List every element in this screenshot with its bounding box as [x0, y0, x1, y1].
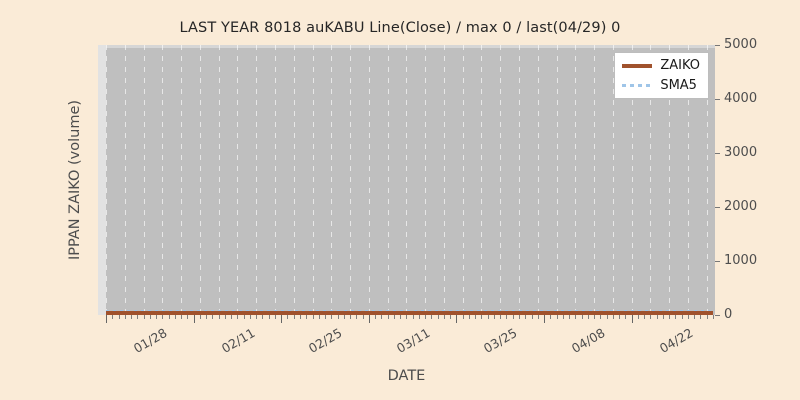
x-tick-minor: [563, 315, 564, 319]
x-tick-minor: [713, 315, 714, 319]
x-tick-minor: [669, 315, 670, 319]
x-tick-minor: [394, 315, 395, 319]
y-axis-title: IPPAN ZAIKO (volume): [62, 45, 88, 315]
x-tick-minor: [175, 315, 176, 319]
x-tick-minor: [300, 315, 301, 319]
x-tick-minor: [363, 315, 364, 319]
y-tick-label: 2000: [724, 199, 757, 214]
x-axis-labels: 01/2802/1102/2503/1103/2504/0804/22: [98, 325, 715, 370]
x-tick-minor: [700, 315, 701, 319]
x-tick-minor: [137, 315, 138, 319]
y-tick-mark: [715, 207, 720, 208]
x-tick-minor: [450, 315, 451, 319]
x-tick-minor: [375, 315, 376, 319]
x-tick-minor: [231, 315, 232, 319]
x-tick-minor: [419, 315, 420, 319]
x-tick-minor: [657, 315, 658, 319]
x-tick-minor: [262, 315, 263, 319]
x-tick-minor: [331, 315, 332, 319]
x-tick-minor: [519, 315, 520, 319]
x-tick-minor: [125, 315, 126, 319]
x-axis-title: DATE: [98, 368, 715, 384]
x-tick-label: 01/28: [131, 325, 170, 356]
x-tick-minor: [488, 315, 489, 319]
y-tick-mark: [715, 45, 720, 46]
x-tick-minor: [350, 315, 351, 319]
chart-legend[interactable]: ZAIKO SMA5: [614, 52, 709, 99]
x-tick-minor: [150, 315, 151, 319]
x-tick-minor: [356, 315, 357, 319]
x-tick-minor: [413, 315, 414, 319]
y-tick-label: 1000: [724, 253, 757, 268]
x-tick-minor: [694, 315, 695, 319]
x-tick-minor: [256, 315, 257, 319]
x-tick-minor: [494, 315, 495, 319]
x-tick-minor: [431, 315, 432, 319]
x-tick-minor: [244, 315, 245, 319]
x-tick-minor: [582, 315, 583, 319]
x-tick-minor: [650, 315, 651, 319]
x-tick-minor: [500, 315, 501, 319]
x-tick-minor: [525, 315, 526, 319]
x-tick-minor: [569, 315, 570, 319]
x-tick-minor: [469, 315, 470, 319]
x-tick-minor: [112, 315, 113, 319]
x-tick-minor: [287, 315, 288, 319]
x-tick-major: [632, 315, 633, 323]
x-tick-minor: [538, 315, 539, 319]
x-tick-minor: [400, 315, 401, 319]
x-tick-major: [106, 315, 107, 323]
x-tick-minor: [131, 315, 132, 319]
plot-area: ZAIKO SMA5: [98, 45, 715, 315]
x-tick-label: 03/25: [481, 325, 520, 356]
x-tick-major: [194, 315, 195, 323]
x-tick-minor: [219, 315, 220, 319]
x-tick-minor: [675, 315, 676, 319]
x-tick-minor: [438, 315, 439, 319]
x-tick-label: 04/08: [569, 325, 608, 356]
y-axis-title-text: IPPAN ZAIKO (volume): [67, 100, 83, 260]
x-tick-minor: [212, 315, 213, 319]
x-tick-minor: [313, 315, 314, 319]
x-tick-minor: [381, 315, 382, 319]
x-tick-minor: [588, 315, 589, 319]
x-tick-minor: [506, 315, 507, 319]
x-tick-minor: [325, 315, 326, 319]
x-tick-minor: [444, 315, 445, 319]
x-tick-major: [456, 315, 457, 323]
chart-title: LAST YEAR 8018 auKABU Line(Close) / max …: [0, 20, 800, 36]
y-tick-label: 0: [724, 307, 732, 322]
legend-swatch-sma5-icon: [622, 79, 652, 92]
x-tick-minor: [638, 315, 639, 319]
x-tick-major: [281, 315, 282, 323]
y-tick-label: 3000: [724, 145, 757, 160]
x-tick-minor: [481, 315, 482, 319]
x-tick-minor: [206, 315, 207, 319]
x-tick-minor: [237, 315, 238, 319]
y-axis-right: 010002000300040005000: [715, 45, 795, 315]
x-tick-minor: [594, 315, 595, 319]
x-tick-minor: [663, 315, 664, 319]
chart-figure: LAST YEAR 8018 auKABU Line(Close) / max …: [0, 0, 800, 400]
y-tick-mark: [715, 261, 720, 262]
x-tick-minor: [688, 315, 689, 319]
x-tick-label: 02/11: [218, 325, 257, 356]
legend-label-zaiko: ZAIKO: [660, 58, 700, 73]
x-tick-minor: [600, 315, 601, 319]
x-tick-minor: [319, 315, 320, 319]
x-tick-minor: [625, 315, 626, 319]
x-tick-minor: [513, 315, 514, 319]
x-tick-minor: [682, 315, 683, 319]
legend-swatch-zaiko-icon: [622, 59, 652, 72]
x-tick-minor: [187, 315, 188, 319]
legend-item-zaiko[interactable]: ZAIKO: [622, 58, 700, 73]
x-tick-minor: [338, 315, 339, 319]
x-tick-major: [369, 315, 370, 323]
x-tick-minor: [269, 315, 270, 319]
x-tick-minor: [575, 315, 576, 319]
legend-label-sma5: SMA5: [660, 78, 697, 93]
x-tick-label: 03/11: [394, 325, 433, 356]
x-tick-minor: [225, 315, 226, 319]
x-tick-minor: [475, 315, 476, 319]
y-tick-label: 4000: [724, 91, 757, 106]
y-tick-mark: [715, 153, 720, 154]
x-tick-minor: [200, 315, 201, 319]
x-tick-label: 02/25: [306, 325, 345, 356]
x-tick-minor: [613, 315, 614, 319]
x-tick-minor: [294, 315, 295, 319]
x-tick-minor: [162, 315, 163, 319]
x-tick-minor: [306, 315, 307, 319]
x-tick-minor: [181, 315, 182, 319]
x-tick-minor: [119, 315, 120, 319]
x-tick-minor: [707, 315, 708, 319]
y-tick-mark: [715, 99, 720, 100]
x-tick-minor: [144, 315, 145, 319]
x-tick-minor: [550, 315, 551, 319]
y-tick-mark: [715, 315, 720, 316]
x-tick-minor: [619, 315, 620, 319]
x-axis-ticks: [98, 315, 715, 325]
x-tick-minor: [169, 315, 170, 319]
x-tick-minor: [425, 315, 426, 319]
legend-item-sma5[interactable]: SMA5: [622, 78, 700, 93]
x-tick-major: [544, 315, 545, 323]
x-tick-minor: [344, 315, 345, 319]
x-tick-minor: [388, 315, 389, 319]
y-tick-label: 5000: [724, 37, 757, 52]
x-tick-minor: [644, 315, 645, 319]
x-tick-minor: [250, 315, 251, 319]
x-tick-minor: [275, 315, 276, 319]
x-tick-label: 04/22: [656, 325, 695, 356]
x-tick-minor: [607, 315, 608, 319]
x-tick-minor: [406, 315, 407, 319]
x-tick-minor: [463, 315, 464, 319]
x-tick-minor: [156, 315, 157, 319]
x-tick-minor: [532, 315, 533, 319]
x-tick-minor: [557, 315, 558, 319]
